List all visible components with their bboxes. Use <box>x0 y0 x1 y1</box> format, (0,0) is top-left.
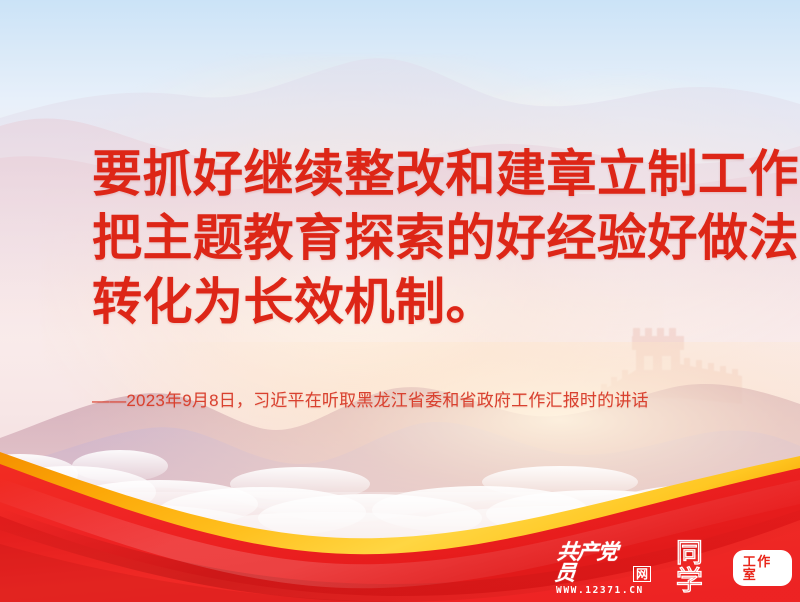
headline-quote: 要抓好继续整改和建章立制工作， 把主题教育探索的好经验好做法 转化为长效机制。 <box>92 142 752 334</box>
site-brand-calligraphy: 共产党员 <box>554 541 632 583</box>
poster-canvas: 要抓好继续整改和建章立制工作， 把主题教育探索的好经验好做法 转化为长效机制。 … <box>0 0 800 602</box>
studio-pill-badge: 工作室 <box>733 550 792 586</box>
site-url-text: WWW.12371.CN <box>556 585 644 596</box>
site-brand-boxed-char: 网 <box>633 566 651 582</box>
quote-attribution: ——2023年9月8日，习近平在听取黑龙江省委和省政府工作汇报时的讲话 <box>92 389 649 413</box>
headline-line-3: 转化为长效机制。 <box>92 270 752 334</box>
site-logo[interactable]: 共产党员 网 WWW.12371.CN <box>556 541 651 596</box>
headline-line-1: 要抓好继续整改和建章立制工作， <box>92 142 752 206</box>
site-logo-wordmark: 共产党员 网 <box>556 541 651 583</box>
headline-line-2: 把主题教育探索的好经验好做法 <box>92 206 752 270</box>
studio-logo[interactable]: 同学 工作室 <box>676 540 792 596</box>
studio-name-text: 同学 <box>676 540 728 596</box>
logo-lockup[interactable]: 共产党员 网 WWW.12371.CN 同学 工作室 <box>556 546 792 590</box>
